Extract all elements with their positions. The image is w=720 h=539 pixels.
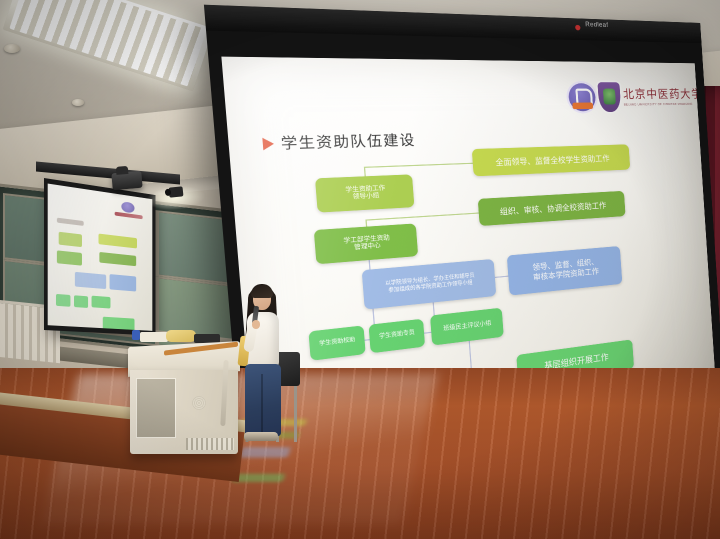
- lectern-vent: [186, 438, 234, 450]
- org-node: 班级民主评议小组: [430, 308, 504, 346]
- org-node: 以学院领导为组长、学办主任和辅导员参加组成的各学院资助工作领导小组: [362, 259, 497, 310]
- presenter-hand: [252, 320, 260, 329]
- screen-brand-label: Redleaf: [585, 22, 608, 29]
- presenter-legs: [245, 364, 281, 436]
- left-screen-glare: [48, 184, 153, 331]
- org-node: 领导、监督、组织、审核本学院资助工作: [507, 246, 623, 296]
- left-projection-screen[interactable]: [44, 178, 155, 336]
- presenter-shoes: [244, 432, 278, 441]
- power-indicator-icon: [575, 25, 581, 31]
- left-screen-canvas: [48, 184, 153, 331]
- desk-item-paper: [140, 332, 168, 342]
- chair-leg: [294, 386, 297, 442]
- presenter-hair-top: [251, 284, 273, 298]
- presenter: [240, 282, 286, 442]
- org-node: 全面领导、监督全校学生资助工作: [472, 144, 631, 176]
- lectern-side-panel: [136, 378, 176, 438]
- reflection-blob: [239, 447, 291, 458]
- org-node: 学生资助校助: [308, 325, 365, 360]
- desk-item-cup: [132, 330, 140, 340]
- lectern-speaker-grille: [192, 396, 206, 410]
- lecture-hall-photo: Redleaf 北京中医药大学 BEIJING UNIVERSITY OF CH…: [0, 0, 720, 539]
- org-node: 组织、审核、协调全校资助工作: [478, 191, 626, 226]
- org-node: 学生资助工作领导小组: [315, 174, 414, 212]
- wall-camera: [169, 186, 184, 197]
- org-node: 学工部学生资助管理中心: [314, 223, 418, 264]
- smoke-detector-1: [4, 44, 20, 53]
- reflection-blob: [232, 474, 285, 482]
- ceiling-projector: [111, 171, 142, 191]
- lectern-wood-edge: [164, 342, 238, 356]
- org-node: 学生资助专员: [369, 319, 426, 354]
- connector-line: [495, 276, 508, 278]
- desk-item-cloth: [166, 330, 196, 342]
- smoke-detector-2: [72, 99, 84, 106]
